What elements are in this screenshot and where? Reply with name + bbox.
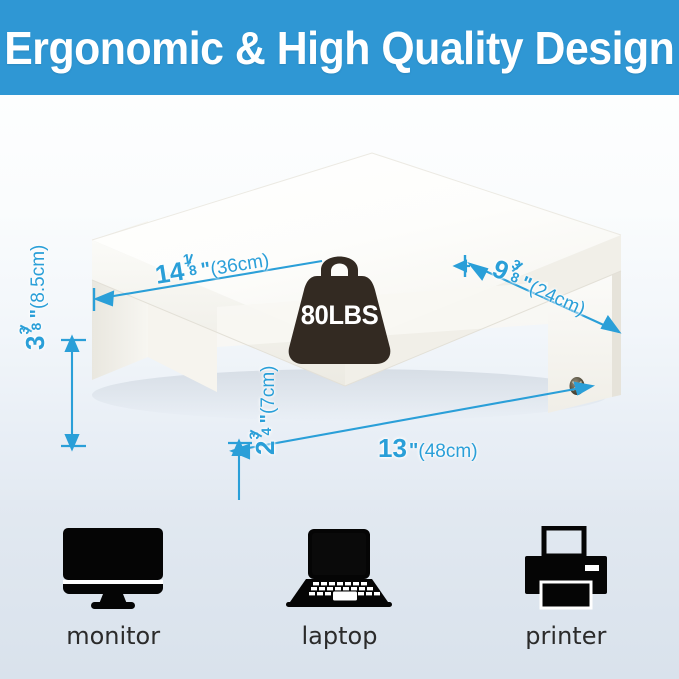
product-infographic: Ergonomic & High Quality Design	[0, 0, 679, 679]
laptop-icon	[284, 526, 394, 610]
dimension-label-inner-width: 13"(48cm)	[378, 435, 478, 461]
weight-capacity-label: 80LBS	[280, 300, 399, 331]
feature-laptop-label: laptop	[302, 622, 378, 650]
feature-laptop: laptop	[226, 500, 452, 650]
monitor-icon	[61, 526, 165, 610]
dimension-inner-width-unit: "	[407, 440, 418, 462]
dimension-height-fraction: 3 8	[18, 321, 44, 336]
monitor-icon-wrapper	[61, 526, 165, 610]
dimension-label-height: 3 3 8 "(8.5cm)	[18, 245, 48, 350]
dimension-clearance-unit: "	[257, 414, 279, 425]
dimension-height-metric: (8.5cm)	[28, 245, 49, 309]
compatible-devices-strip: monitor	[0, 500, 679, 679]
dimension-inner-width-metric: (48cm)	[418, 441, 477, 462]
printer-icon	[517, 526, 615, 610]
weight-capacity-badge: 80LBS	[277, 236, 402, 366]
feature-printer: printer	[453, 500, 679, 650]
dimension-height-unit: "	[27, 309, 49, 320]
dimension-width-whole: 14	[153, 256, 186, 290]
dimension-clearance-whole: 2	[250, 441, 280, 455]
laptop-icon-wrapper	[284, 526, 394, 610]
page-title: Ergonomic & High Quality Design	[4, 21, 674, 75]
dimension-height-whole: 3	[20, 336, 50, 350]
product-hero: 14 1 8 "(36cm) 9 3 8 "(24cm) 3 3 8 "(8.5…	[0, 95, 679, 500]
feature-monitor-label: monitor	[66, 622, 160, 650]
printer-icon-wrapper	[517, 526, 615, 610]
dimension-width-fraction: 1 8	[181, 251, 200, 279]
feature-printer-label: printer	[525, 622, 606, 650]
header-banner: Ergonomic & High Quality Design	[0, 0, 679, 95]
dimension-label-clearance: 2 3 4 "(7cm)	[248, 365, 278, 455]
dimension-inner-width-whole: 13	[378, 433, 407, 463]
dimension-clearance-fraction: 3 4	[248, 426, 274, 441]
feature-monitor: monitor	[0, 500, 226, 650]
dimension-clearance-metric: (7cm)	[258, 365, 279, 414]
